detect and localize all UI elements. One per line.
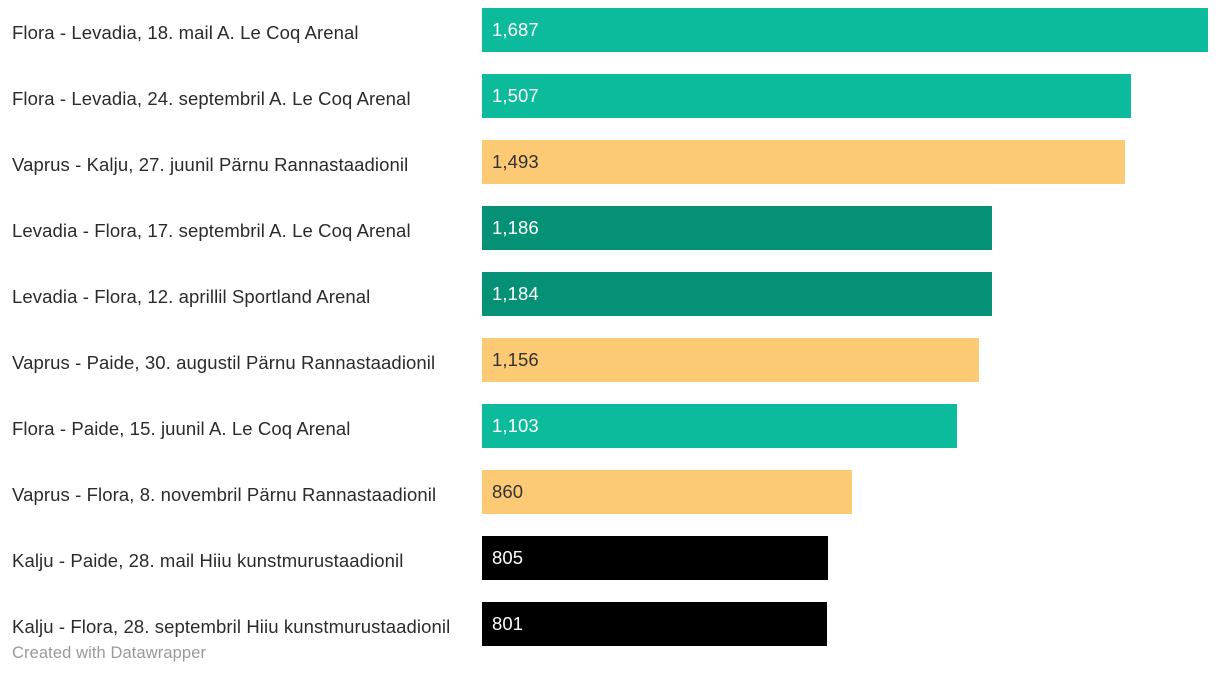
bar-track: 1,103 [482, 396, 1220, 462]
bar-row: Vaprus - Paide, 30. augustil Pärnu Ranna… [0, 330, 1220, 396]
datawrapper-credit[interactable]: Created with Datawrapper [12, 644, 206, 663]
bar-value-label: 1,687 [492, 21, 539, 40]
bar[interactable]: 1,493 [482, 140, 1125, 184]
bar-row: Kalju - Paide, 28. mail Hiiu kunstmurust… [0, 528, 1220, 594]
bar[interactable]: 1,184 [482, 272, 992, 316]
bar[interactable]: 1,156 [482, 338, 979, 382]
bar[interactable]: 1,507 [482, 74, 1131, 118]
bar-category-label: Vaprus - Flora, 8. novembril Pärnu Ranna… [12, 462, 467, 528]
bar-track: 860 [482, 462, 1220, 528]
bar-row: Vaprus - Kalju, 27. juunil Pärnu Rannast… [0, 132, 1220, 198]
bar-category-label: Flora - Levadia, 18. mail A. Le Coq Aren… [12, 0, 467, 66]
bar-value-label: 801 [492, 615, 523, 634]
bar[interactable]: 801 [482, 602, 827, 646]
bar-chart: Flora - Levadia, 18. mail A. Le Coq Aren… [0, 0, 1220, 682]
bar-track: 1,493 [482, 132, 1220, 198]
bar-value-label: 860 [492, 483, 523, 502]
bar-track: 1,184 [482, 264, 1220, 330]
bar[interactable]: 1,103 [482, 404, 957, 448]
bar[interactable]: 1,687 [482, 8, 1208, 52]
bar-category-label: Levadia - Flora, 12. aprillil Sportland … [12, 264, 467, 330]
bar-value-label: 805 [492, 549, 523, 568]
bar-track: 1,507 [482, 66, 1220, 132]
bar-track: 805 [482, 528, 1220, 594]
bar-category-label: Vaprus - Paide, 30. augustil Pärnu Ranna… [12, 330, 467, 396]
bar-value-label: 1,507 [492, 87, 539, 106]
bar[interactable]: 1,186 [482, 206, 992, 250]
bar-value-label: 1,103 [492, 417, 539, 436]
bar-row: Flora - Paide, 15. juunil A. Le Coq Aren… [0, 396, 1220, 462]
bar-row: Flora - Levadia, 18. mail A. Le Coq Aren… [0, 0, 1220, 66]
bar-category-label: Kalju - Paide, 28. mail Hiiu kunstmurust… [12, 528, 467, 594]
bar-category-label: Flora - Paide, 15. juunil A. Le Coq Aren… [12, 396, 467, 462]
bar[interactable]: 805 [482, 536, 828, 580]
bar-row: Flora - Levadia, 24. septembril A. Le Co… [0, 66, 1220, 132]
bar-value-label: 1,156 [492, 351, 539, 370]
bar-value-label: 1,186 [492, 219, 539, 238]
bar[interactable]: 860 [482, 470, 852, 514]
bar-category-label: Vaprus - Kalju, 27. juunil Pärnu Rannast… [12, 132, 467, 198]
bar-category-label: Flora - Levadia, 24. septembril A. Le Co… [12, 66, 467, 132]
bar-track: 1,156 [482, 330, 1220, 396]
bar-track: 801 [482, 594, 1220, 660]
bar-category-label: Levadia - Flora, 17. septembril A. Le Co… [12, 198, 467, 264]
bar-value-label: 1,493 [492, 153, 539, 172]
bar-track: 1,186 [482, 198, 1220, 264]
bar-row: Levadia - Flora, 17. septembril A. Le Co… [0, 198, 1220, 264]
bar-row: Vaprus - Flora, 8. novembril Pärnu Ranna… [0, 462, 1220, 528]
bar-rows: Flora - Levadia, 18. mail A. Le Coq Aren… [0, 0, 1220, 660]
bar-value-label: 1,184 [492, 285, 539, 304]
bar-row: Levadia - Flora, 12. aprillil Sportland … [0, 264, 1220, 330]
bar-track: 1,687 [482, 0, 1220, 66]
